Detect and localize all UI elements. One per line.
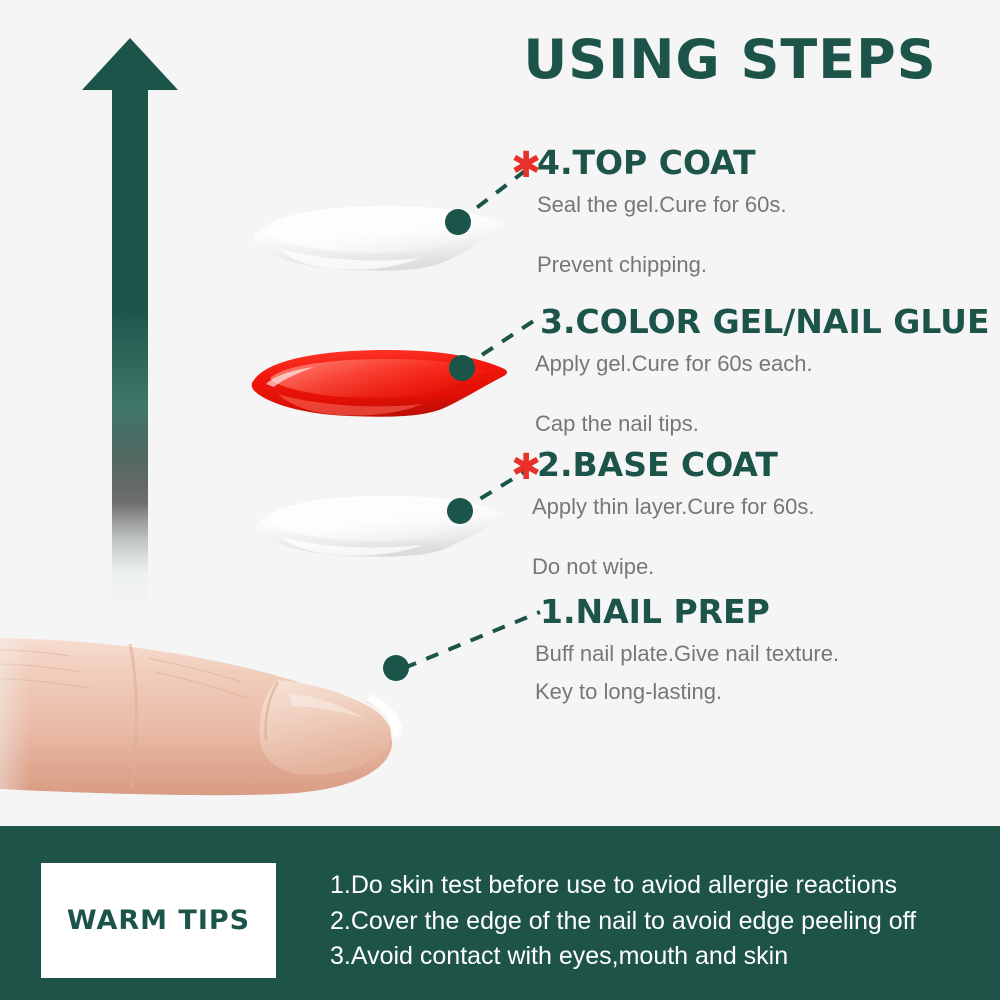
step-block-4: ✱ 4.TOP COAT Seal the gel.Cure for 60s. … — [537, 146, 786, 278]
step-block-2: ✱ 2.BASE COAT Apply thin layer.Cure for … — [537, 448, 814, 580]
red-nail-tip-color-gel — [248, 340, 518, 422]
page-title: USING STEPS — [500, 32, 960, 89]
step-3-line-2: Cap the nail tips. — [535, 411, 990, 437]
warm-tips-band: WARM TIPS 1.Do skin test before use to a… — [0, 826, 1000, 1000]
step-4-heading-text: 4.TOP COAT — [537, 143, 756, 182]
step-2-line-1: Apply thin layer.Cure for 60s. — [532, 494, 814, 520]
step-1-line-2: Key to long-lasting. — [535, 679, 839, 705]
step-4-line-2: Prevent chipping. — [537, 252, 786, 278]
connector-dot-step-3 — [449, 355, 475, 381]
step-1-heading: 1.NAIL PREP — [540, 595, 839, 628]
warm-tips-badge-label: WARM TIPS — [67, 905, 250, 936]
step-block-3: 3.COLOR GEL/NAIL GLUE Apply gel.Cure for… — [540, 305, 990, 437]
infographic-page: USING STEPS — [0, 0, 1000, 1000]
step-1-heading-text: 1.NAIL PREP — [540, 592, 770, 631]
connector-dot-step-1 — [383, 655, 409, 681]
step-3-heading-text: 3.COLOR GEL/NAIL GLUE — [540, 302, 990, 341]
warm-tip-item-3: 3.Avoid contact with eyes,mouth and skin — [330, 939, 916, 975]
step-3-heading: 3.COLOR GEL/NAIL GLUE — [540, 305, 990, 338]
white-nail-tip-base-coat — [252, 488, 516, 562]
upward-arrow-icon — [72, 34, 188, 634]
step-2-heading: ✱ 2.BASE COAT — [537, 448, 814, 481]
white-nail-tip-top-coat — [248, 196, 518, 276]
required-star-icon: ✱ — [511, 148, 541, 184]
warm-tips-list: 1.Do skin test before use to aviod aller… — [330, 868, 916, 975]
required-star-icon: ✱ — [511, 450, 541, 486]
connector-dot-step-1-base — [447, 498, 473, 524]
step-3-line-1: Apply gel.Cure for 60s each. — [535, 351, 990, 377]
warm-tips-badge: WARM TIPS — [41, 863, 276, 978]
connector-dot-step-4 — [445, 209, 471, 235]
step-4-line-1: Seal the gel.Cure for 60s. — [537, 192, 786, 218]
step-2-line-2: Do not wipe. — [532, 554, 814, 580]
finger-photo — [0, 622, 460, 827]
step-block-1: 1.NAIL PREP Buff nail plate.Give nail te… — [540, 595, 839, 705]
warm-tip-item-2: 2.Cover the edge of the nail to avoid ed… — [330, 904, 916, 940]
step-1-line-1: Buff nail plate.Give nail texture. — [535, 641, 839, 667]
step-2-heading-text: 2.BASE COAT — [537, 445, 778, 484]
step-4-heading: ✱ 4.TOP COAT — [537, 146, 786, 179]
warm-tip-item-1: 1.Do skin test before use to aviod aller… — [330, 868, 916, 904]
